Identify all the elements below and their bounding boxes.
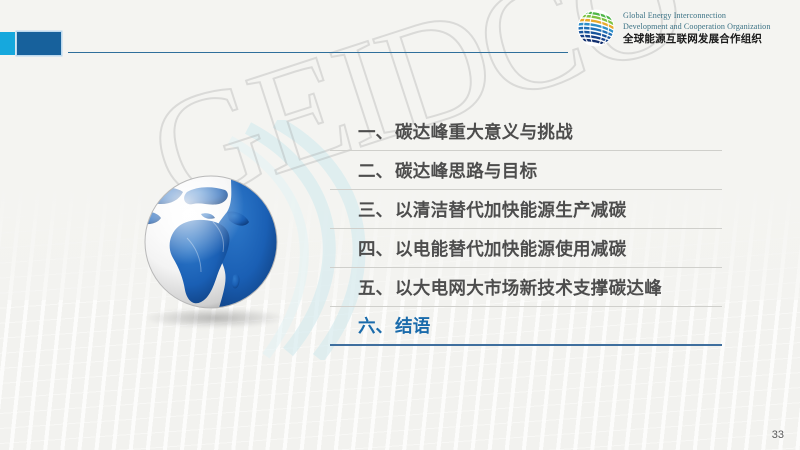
presentation-slide: GEIDCO <box>0 0 800 450</box>
globe-shadow <box>145 308 285 328</box>
agenda-item-6-number: 六、 <box>358 313 393 338</box>
agenda-item-4-label: 以电能替代加快能源使用减碳 <box>395 236 626 261</box>
agenda-item-3[interactable]: 三、 以清洁替代加快能源生产减碳 <box>330 190 722 229</box>
logo-english-line-2: Development and Cooperation Organization <box>623 22 770 32</box>
agenda-item-1-number: 一、 <box>358 119 393 144</box>
agenda-item-5-label: 以大电网大市场新技术支撑碳达峰 <box>395 275 662 300</box>
globe-icon <box>135 168 295 328</box>
header-accent-square-blue <box>17 32 61 55</box>
agenda-item-2-label: 碳达峰思路与目标 <box>395 158 537 183</box>
agenda-list: 一、 碳达峰重大意义与挑战 二、 碳达峰思路与目标 三、 以清洁替代加快能源生产… <box>330 112 722 346</box>
page-number: 33 <box>772 429 784 441</box>
agenda-item-6[interactable]: 六、 结语 <box>330 307 722 346</box>
agenda-item-2[interactable]: 二、 碳达峰思路与目标 <box>330 151 722 190</box>
logo-english-line-1: Global Energy Interconnection <box>623 11 770 21</box>
agenda-item-5[interactable]: 五、 以大电网大市场新技术支撑碳达峰 <box>330 268 722 307</box>
organization-logo: Global Energy Interconnection Developmen… <box>576 6 794 50</box>
agenda-item-4[interactable]: 四、 以电能替代加快能源使用减碳 <box>330 229 722 268</box>
agenda-item-3-label: 以清洁替代加快能源生产减碳 <box>395 197 626 222</box>
geidco-globe-logo-icon <box>576 8 616 48</box>
agenda-item-2-number: 二、 <box>358 158 393 183</box>
header-accent-square-cyan <box>0 32 15 55</box>
header-divider-rule <box>68 52 568 53</box>
globe-illustration <box>135 168 295 348</box>
agenda-item-4-number: 四、 <box>358 236 393 261</box>
agenda-item-5-number: 五、 <box>358 275 393 300</box>
agenda-item-1-label: 碳达峰重大意义与挑战 <box>395 119 573 144</box>
agenda-item-3-number: 三、 <box>358 197 393 222</box>
agenda-item-1[interactable]: 一、 碳达峰重大意义与挑战 <box>330 112 722 151</box>
agenda-item-6-label: 结语 <box>395 313 431 338</box>
logo-text-block: Global Energy Interconnection Developmen… <box>623 11 770 45</box>
logo-chinese-name: 全球能源互联网发展合作组织 <box>623 33 770 45</box>
